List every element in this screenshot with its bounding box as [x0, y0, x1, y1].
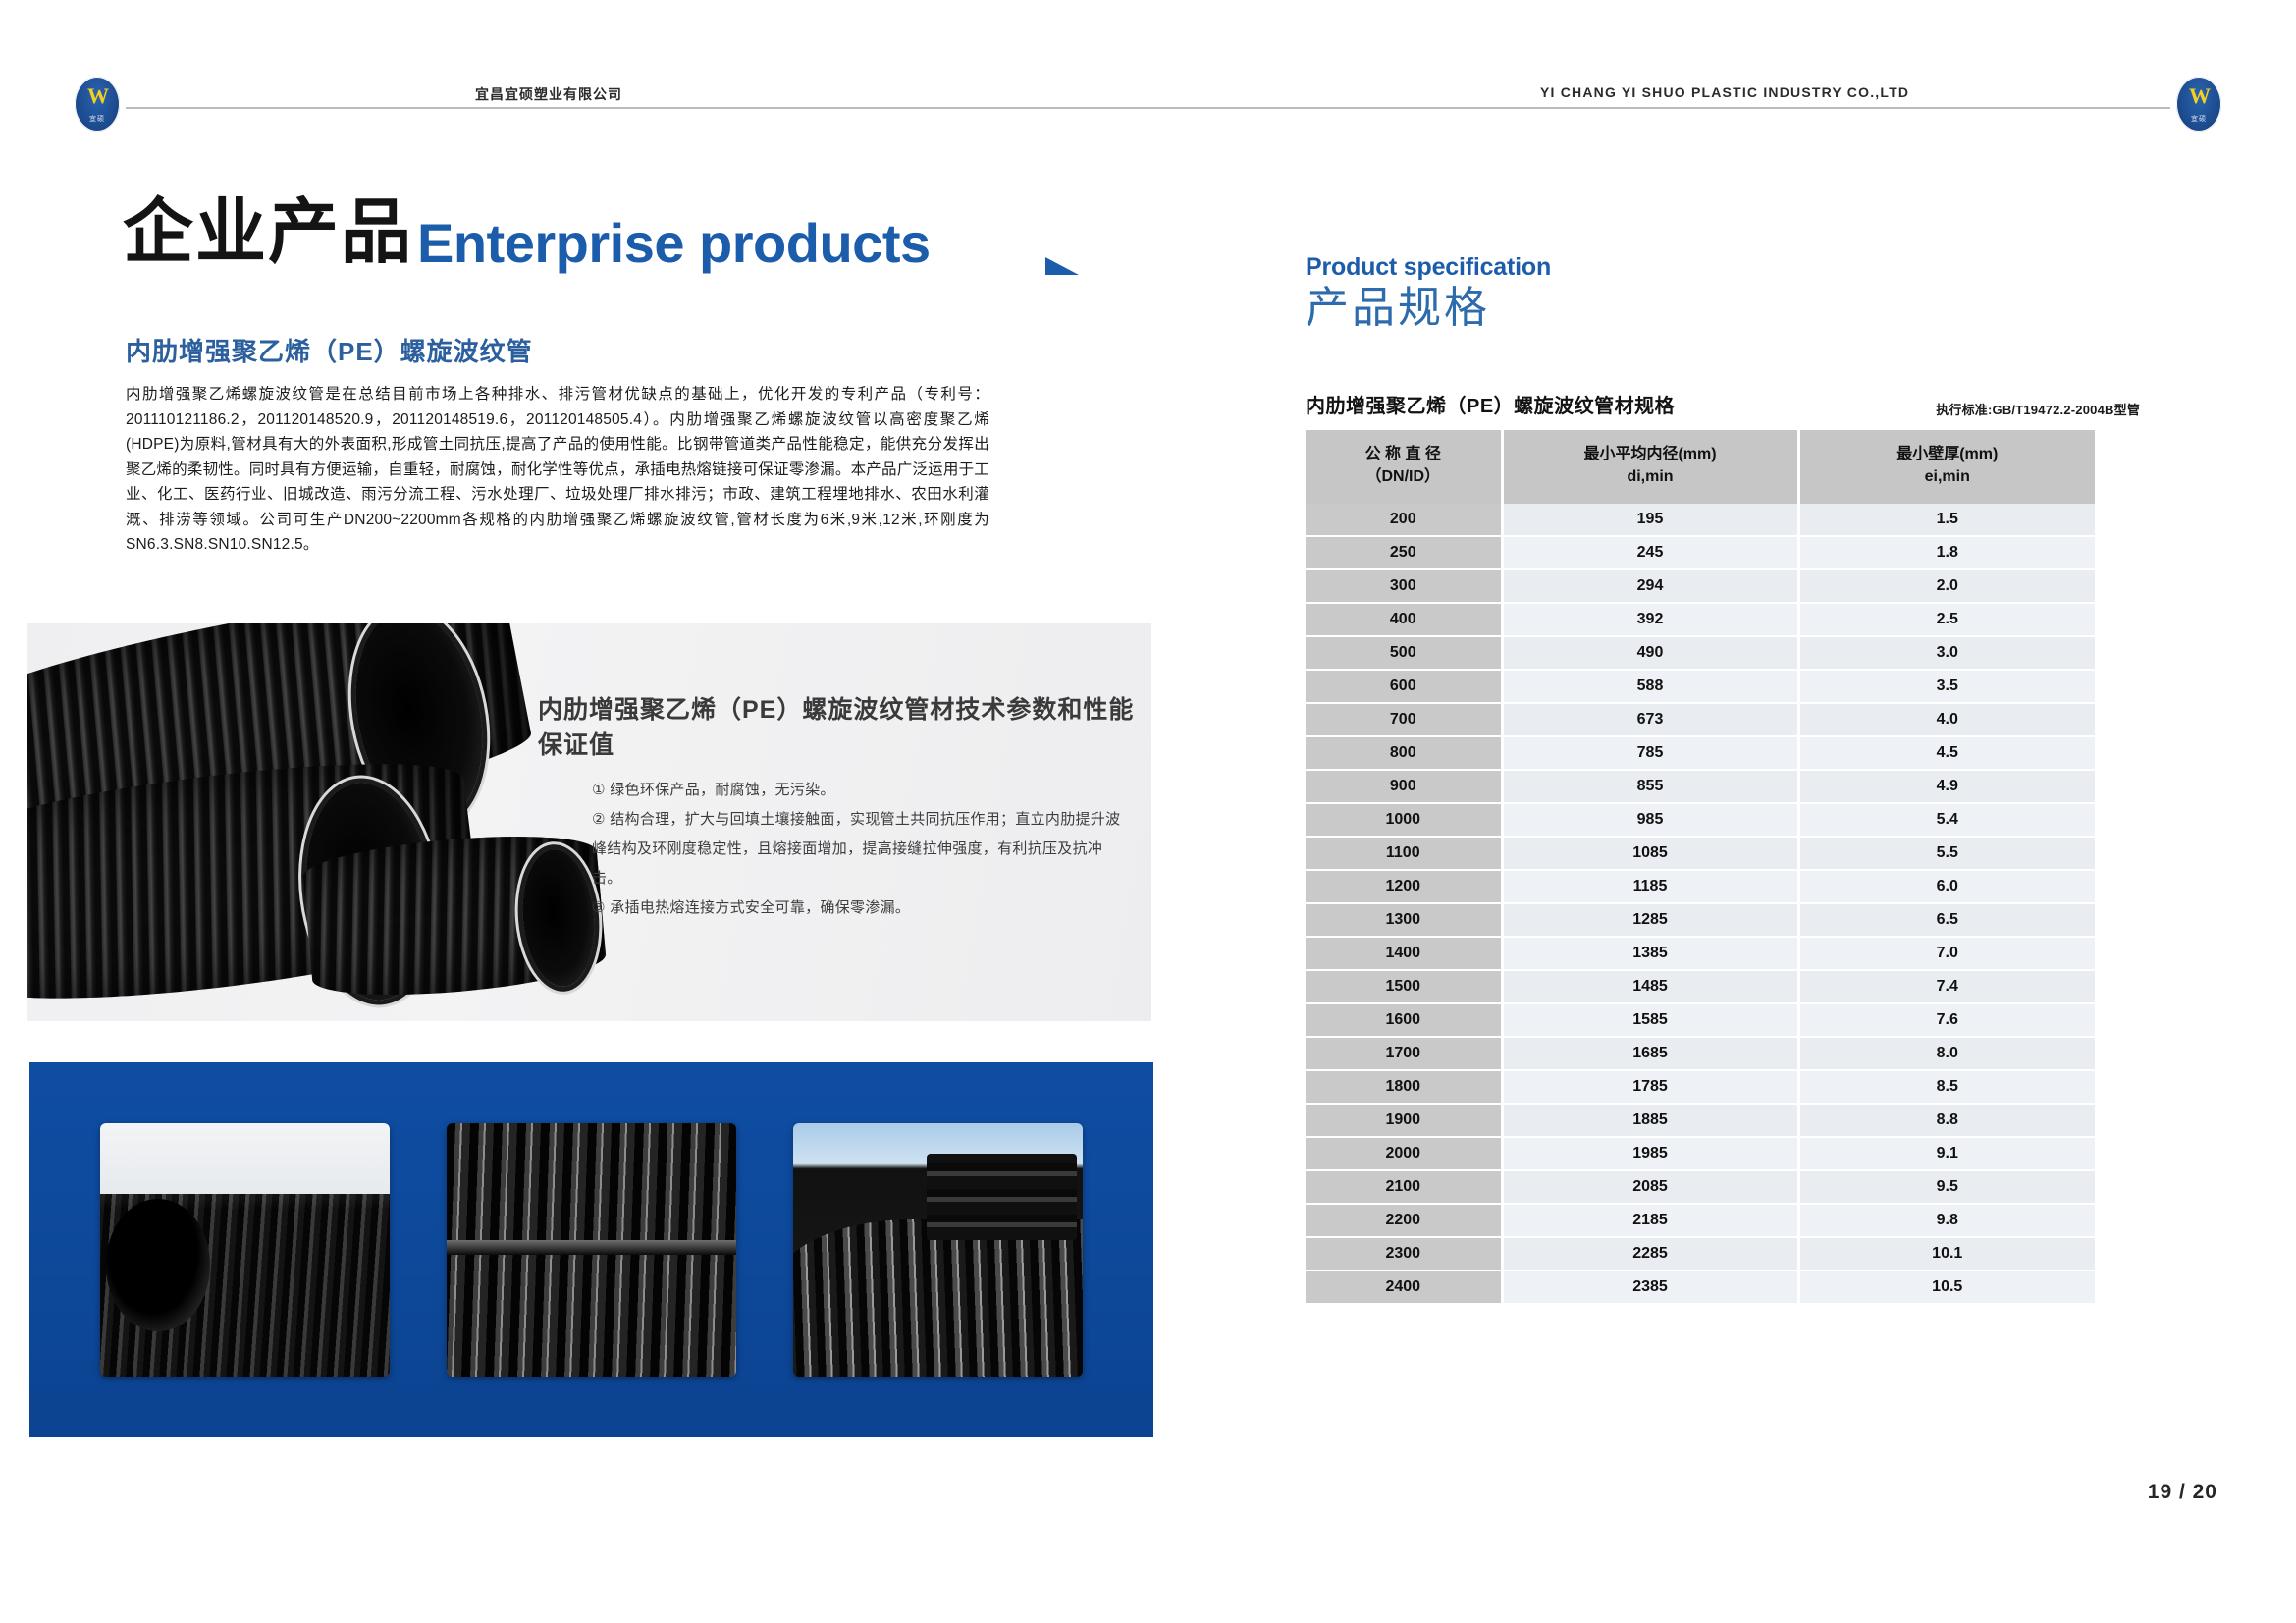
- table-row: 130012856.5: [1306, 903, 2095, 937]
- cell-nominal-diameter: 700: [1306, 703, 1502, 736]
- table-row: 2001951.5: [1306, 504, 2095, 536]
- spec-table-body: 2001951.52502451.83002942.04003922.55004…: [1306, 504, 2095, 1304]
- cell-nominal-diameter: 2200: [1306, 1204, 1502, 1237]
- product-photo-panel: [29, 1062, 1153, 1437]
- cell-min-inner-diameter: 1885: [1502, 1104, 1798, 1137]
- cell-nominal-diameter: 2100: [1306, 1170, 1502, 1204]
- col-header-nominal-diameter: 公 称 直 径 （DN/ID）: [1306, 430, 1502, 503]
- col-header-line1: 最小壁厚(mm): [1896, 446, 1998, 462]
- page-header: W 宜硕 宜昌宜硕塑业有限公司 YI CHANG YI SHUO PLASTIC…: [0, 77, 2296, 139]
- cell-min-inner-diameter: 1985: [1502, 1137, 1798, 1170]
- cell-min-wall-thickness: 6.0: [1798, 870, 2095, 903]
- section-title: 企业产品 Enterprise products: [123, 196, 1168, 295]
- cell-min-inner-diameter: 785: [1502, 736, 1798, 770]
- logo-glyph: W: [2176, 85, 2221, 107]
- tech-point: ② 结构合理，扩大与回填土壤接触面，实现管土共同抗压作用；直立内肋提升波峰结构及…: [592, 805, 1122, 893]
- table-row: 200019859.1: [1306, 1137, 2095, 1170]
- cell-nominal-diameter: 800: [1306, 736, 1502, 770]
- table-row: 7006734.0: [1306, 703, 2095, 736]
- cell-nominal-diameter: 1400: [1306, 937, 1502, 970]
- cell-min-wall-thickness: 2.5: [1798, 603, 2095, 636]
- product-description: 内肋增强聚乙烯螺旋波纹管是在总结目前市场上各种排水、排污管材优缺点的基础上，优化…: [126, 382, 989, 558]
- table-row: 210020859.5: [1306, 1170, 2095, 1204]
- col-header-line2: di,min: [1508, 465, 1793, 488]
- col-header-line2: ei,min: [1804, 465, 2092, 488]
- cell-nominal-diameter: 500: [1306, 636, 1502, 670]
- col-header-line2: （DN/ID）: [1309, 465, 1497, 488]
- cell-min-wall-thickness: 2.0: [1798, 569, 2095, 603]
- spec-table-standard: 执行标准:GB/T19472.2-2004B型管: [1936, 400, 2140, 418]
- col-header-min-wall-thickness: 最小壁厚(mm) ei,min: [1798, 430, 2095, 503]
- cell-min-inner-diameter: 1185: [1502, 870, 1798, 903]
- table-row: 2502451.8: [1306, 536, 2095, 569]
- col-header-line1: 最小平均内径(mm): [1583, 446, 1716, 462]
- cell-min-wall-thickness: 5.4: [1798, 803, 2095, 837]
- col-header-min-inner-diameter: 最小平均内径(mm) di,min: [1502, 430, 1798, 503]
- cell-nominal-diameter: 300: [1306, 569, 1502, 603]
- col-header-line1: 公 称 直 径: [1365, 446, 1441, 462]
- table-row: 120011856.0: [1306, 870, 2095, 903]
- page-number: 19 / 20: [2148, 1481, 2217, 1504]
- table-header-row: 公 称 直 径 （DN/ID） 最小平均内径(mm) di,min 最小壁厚(m…: [1306, 430, 2095, 503]
- brochure-page: W 宜硕 宜昌宜硕塑业有限公司 YI CHANG YI SHUO PLASTIC…: [0, 0, 2296, 1623]
- cell-min-wall-thickness: 4.5: [1798, 736, 2095, 770]
- company-logo-left: W 宜硕: [75, 77, 120, 132]
- cell-min-wall-thickness: 5.5: [1798, 837, 2095, 870]
- tech-point: ① 绿色环保产品，耐腐蚀，无污染。: [592, 776, 1122, 805]
- cell-min-inner-diameter: 1285: [1502, 903, 1798, 937]
- table-row: 190018858.8: [1306, 1104, 2095, 1137]
- cell-min-wall-thickness: 10.1: [1798, 1237, 2095, 1271]
- coiled-corrugated-pipe-photo: [447, 1123, 736, 1377]
- cell-min-inner-diameter: 392: [1502, 603, 1798, 636]
- table-row: 8007854.5: [1306, 736, 2095, 770]
- cell-nominal-diameter: 2300: [1306, 1237, 1502, 1271]
- cell-nominal-diameter: 1100: [1306, 837, 1502, 870]
- table-row: 5004903.0: [1306, 636, 2095, 670]
- spec-table-caption: 内肋增强聚乙烯（PE）螺旋波纹管材规格: [1306, 390, 1675, 418]
- left-column: 企业产品 Enterprise products 内肋增强聚乙烯（PE）螺旋波纹…: [0, 196, 1168, 558]
- cell-min-inner-diameter: 1385: [1502, 937, 1798, 970]
- cell-min-wall-thickness: 7.6: [1798, 1003, 2095, 1037]
- cell-min-wall-thickness: 6.5: [1798, 903, 2095, 937]
- photo-row: [100, 1123, 1083, 1377]
- company-logo-right: W 宜硕: [2176, 77, 2221, 132]
- cell-nominal-diameter: 200: [1306, 504, 1502, 536]
- cell-nominal-diameter: 1600: [1306, 1003, 1502, 1037]
- stacked-corrugated-pipes-photo: [100, 1123, 390, 1377]
- title-arrow-icon: [1045, 257, 1079, 275]
- header-company-name-en: YI CHANG YI SHUO PLASTIC INDUSTRY CO.,LT…: [1526, 84, 1923, 100]
- cell-nominal-diameter: 1500: [1306, 970, 1502, 1003]
- cell-min-wall-thickness: 1.5: [1798, 504, 2095, 536]
- cell-nominal-diameter: 2000: [1306, 1137, 1502, 1170]
- logo-subtext: 宜硕: [75, 114, 120, 124]
- cell-nominal-diameter: 1200: [1306, 870, 1502, 903]
- spec-heading-en: Product specification: [1306, 253, 2140, 282]
- cell-min-inner-diameter: 855: [1502, 770, 1798, 803]
- cell-min-wall-thickness: 8.5: [1798, 1070, 2095, 1104]
- cell-nominal-diameter: 400: [1306, 603, 1502, 636]
- cell-min-inner-diameter: 195: [1502, 504, 1798, 536]
- spec-heading-cn: 产品规格: [1306, 286, 2140, 331]
- pipe-illustration: [27, 623, 621, 1021]
- cell-min-wall-thickness: 8.0: [1798, 1037, 2095, 1070]
- cell-nominal-diameter: 1700: [1306, 1037, 1502, 1070]
- table-row: 3002942.0: [1306, 569, 2095, 603]
- table-row: 10009855.4: [1306, 803, 2095, 837]
- pipe-yard-outdoor-photo: [793, 1123, 1083, 1377]
- cell-min-inner-diameter: 2185: [1502, 1204, 1798, 1237]
- table-row: 180017858.5: [1306, 1070, 2095, 1104]
- cell-min-wall-thickness: 10.5: [1798, 1271, 2095, 1304]
- cell-min-wall-thickness: 7.0: [1798, 937, 2095, 970]
- cell-min-inner-diameter: 588: [1502, 670, 1798, 703]
- cell-min-wall-thickness: 8.8: [1798, 1104, 2095, 1137]
- cell-min-inner-diameter: 1685: [1502, 1037, 1798, 1070]
- cell-min-inner-diameter: 1485: [1502, 970, 1798, 1003]
- cell-min-inner-diameter: 2085: [1502, 1170, 1798, 1204]
- table-row: 160015857.6: [1306, 1003, 2095, 1037]
- cell-min-wall-thickness: 9.5: [1798, 1170, 2095, 1204]
- table-row: 2400238510.5: [1306, 1271, 2095, 1304]
- spec-table: 公 称 直 径 （DN/ID） 最小平均内径(mm) di,min 最小壁厚(m…: [1306, 430, 2095, 1304]
- cell-min-wall-thickness: 9.8: [1798, 1204, 2095, 1237]
- table-row: 6005883.5: [1306, 670, 2095, 703]
- cell-nominal-diameter: 1800: [1306, 1070, 1502, 1104]
- table-caption-row: 内肋增强聚乙烯（PE）螺旋波纹管材规格 执行标准:GB/T19472.2-200…: [1306, 390, 2140, 418]
- cell-min-inner-diameter: 1785: [1502, 1070, 1798, 1104]
- cell-nominal-diameter: 600: [1306, 670, 1502, 703]
- cell-min-inner-diameter: 294: [1502, 569, 1798, 603]
- cell-min-wall-thickness: 3.5: [1798, 670, 2095, 703]
- right-column: Product specification 产品规格 内肋增强聚乙烯（PE）螺旋…: [1306, 253, 2140, 1305]
- cell-nominal-diameter: 2400: [1306, 1271, 1502, 1304]
- cell-min-wall-thickness: 4.0: [1798, 703, 2095, 736]
- tech-panel-title: 内肋增强聚乙烯（PE）螺旋波纹管材技术参数和性能保证值: [538, 690, 1151, 761]
- cell-nominal-diameter: 1300: [1306, 903, 1502, 937]
- tech-panel-points: ① 绿色环保产品，耐腐蚀，无污染。 ② 结构合理，扩大与回填土壤接触面，实现管土…: [592, 776, 1122, 923]
- tech-point: ③ 承插电热熔连接方式安全可靠，确保零渗漏。: [592, 893, 1122, 923]
- header-rule-left: [126, 107, 1182, 109]
- product-name-heading: 内肋增强聚乙烯（PE）螺旋波纹管: [126, 332, 1168, 368]
- header-company-name-cn: 宜昌宜硕塑业有限公司: [461, 84, 636, 104]
- cell-min-wall-thickness: 3.0: [1798, 636, 2095, 670]
- cell-min-inner-diameter: 985: [1502, 803, 1798, 837]
- table-row: 140013857.0: [1306, 937, 2095, 970]
- tech-parameters-panel: 内肋增强聚乙烯（PE）螺旋波纹管材技术参数和性能保证值 ① 绿色环保产品，耐腐蚀…: [27, 623, 1151, 1021]
- table-row: 150014857.4: [1306, 970, 2095, 1003]
- cell-min-inner-diameter: 1585: [1502, 1003, 1798, 1037]
- cell-nominal-diameter: 1000: [1306, 803, 1502, 837]
- section-title-cn: 企业产品: [123, 196, 413, 267]
- cell-nominal-diameter: 900: [1306, 770, 1502, 803]
- table-row: 4003922.5: [1306, 603, 2095, 636]
- cell-min-wall-thickness: 9.1: [1798, 1137, 2095, 1170]
- table-row: 110010855.5: [1306, 837, 2095, 870]
- cell-min-inner-diameter: 245: [1502, 536, 1798, 569]
- cell-nominal-diameter: 1900: [1306, 1104, 1502, 1137]
- cell-nominal-diameter: 250: [1306, 536, 1502, 569]
- logo-glyph: W: [75, 85, 120, 107]
- table-row: 170016858.0: [1306, 1037, 2095, 1070]
- table-row: 2300228510.1: [1306, 1237, 2095, 1271]
- cell-min-inner-diameter: 490: [1502, 636, 1798, 670]
- cell-min-inner-diameter: 673: [1502, 703, 1798, 736]
- table-row: 9008554.9: [1306, 770, 2095, 803]
- cell-min-inner-diameter: 2385: [1502, 1271, 1798, 1304]
- table-row: 220021859.8: [1306, 1204, 2095, 1237]
- cell-min-wall-thickness: 4.9: [1798, 770, 2095, 803]
- section-title-en: Enterprise products: [417, 216, 931, 271]
- cell-min-wall-thickness: 7.4: [1798, 970, 2095, 1003]
- cell-min-inner-diameter: 1085: [1502, 837, 1798, 870]
- logo-subtext: 宜硕: [2176, 114, 2221, 124]
- cell-min-wall-thickness: 1.8: [1798, 536, 2095, 569]
- cell-min-inner-diameter: 2285: [1502, 1237, 1798, 1271]
- header-rule-right: [1114, 107, 2170, 109]
